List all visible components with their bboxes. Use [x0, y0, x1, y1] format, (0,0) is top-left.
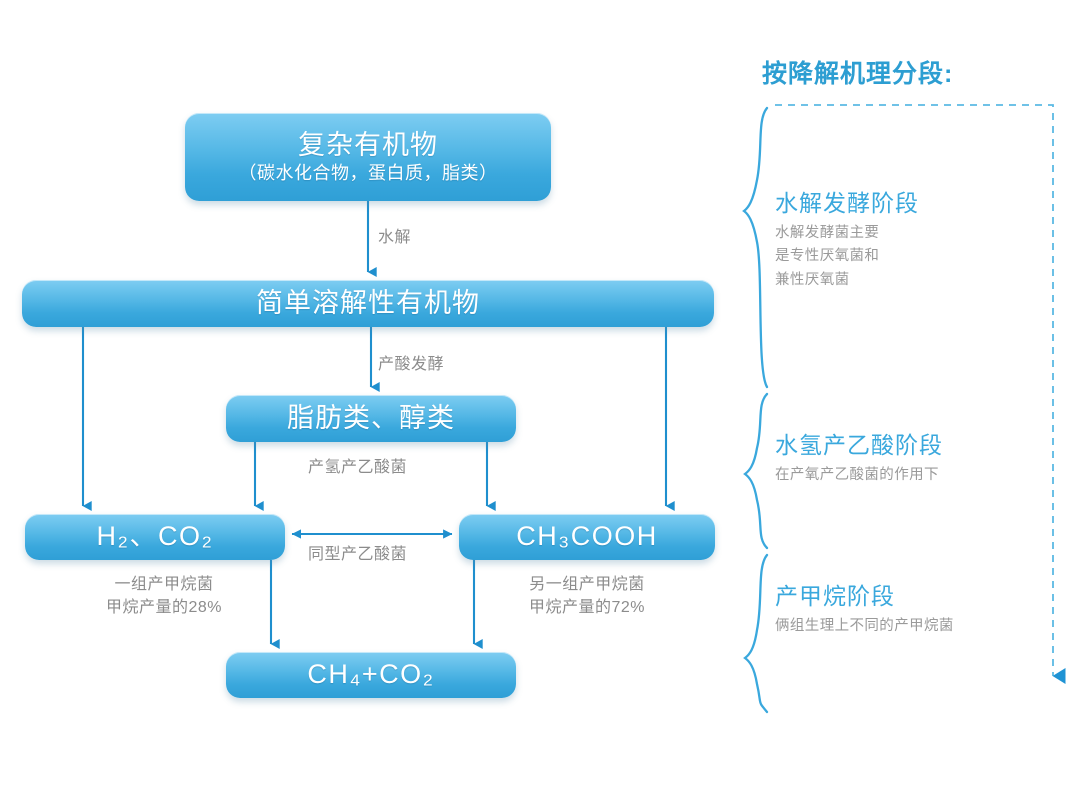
- node-simple-soluble-organics[interactable]: 简单溶解性有机物: [22, 280, 714, 327]
- stage-desc-line-1: 在产氧产乙酸菌的作用下: [775, 464, 943, 487]
- stage-block-hydrolysis-fermentation: 水解发酵阶段 水解发酵菌主要 是专性厌氧菌和 兼性厌氧菌: [775, 190, 919, 292]
- node-fats-alcohols[interactable]: 脂肪类、醇类: [226, 395, 516, 442]
- stage-desc-line-3: 兼性厌氧菌: [775, 269, 919, 292]
- node-complex-organics[interactable]: 复杂有机物 （碳水化合物，蛋白质，脂类）: [185, 113, 551, 201]
- node-fats-alcohols-title: 脂肪类、醇类: [287, 403, 455, 433]
- panel-title: 按降解机理分段:: [762, 54, 953, 90]
- edge-label-left-methanogens: 一组产甲烷菌 甲烷产量的28%: [84, 573, 244, 619]
- stage-desc-methanogenesis: 俩组生理上不同的产甲烷菌: [775, 615, 954, 638]
- stage-block-hydrogen-acetate: 水氢产乙酸阶段 在产氧产乙酸菌的作用下: [775, 432, 943, 487]
- edge-label-right-methanogens: 另一组产甲烷菌 甲烷产量的72%: [502, 573, 672, 619]
- diagram-canvas: 复杂有机物 （碳水化合物，蛋白质，脂类） 简单溶解性有机物 脂肪类、醇类 H₂、…: [0, 0, 1080, 793]
- node-complex-organics-title: 复杂有机物: [298, 130, 438, 160]
- node-ch4-co2-formula: CH₄+CO₂: [307, 660, 434, 690]
- stage-desc-hydrogen-acetate: 在产氧产乙酸菌的作用下: [775, 464, 943, 487]
- brace-stage-1: [744, 108, 767, 387]
- edge-label-right-methanogens-line2: 甲烷产量的72%: [502, 596, 672, 619]
- stage-title-methanogenesis: 产甲烷阶段: [775, 583, 954, 611]
- node-h2-co2-formula: H₂、CO₂: [97, 522, 214, 552]
- edge-label-hydrolysis: 水解: [378, 226, 411, 249]
- node-complex-organics-subtitle: （碳水化合物，蛋白质，脂类）: [239, 162, 498, 185]
- node-ch3cooh[interactable]: CH₃COOH: [459, 514, 715, 560]
- stage-block-methanogenesis: 产甲烷阶段 俩组生理上不同的产甲烷菌: [775, 583, 954, 638]
- node-simple-soluble-organics-title: 简单溶解性有机物: [256, 288, 480, 318]
- stage-desc-line-1: 水解发酵菌主要: [775, 222, 919, 245]
- edge-label-right-methanogens-line1: 另一组产甲烷菌: [502, 573, 672, 596]
- edge-label-homoacetogenic-bacteria: 同型产乙酸菌: [308, 543, 407, 566]
- node-ch3cooh-formula: CH₃COOH: [516, 522, 658, 552]
- stage-desc-hydrolysis-fermentation: 水解发酵菌主要 是专性厌氧菌和 兼性厌氧菌: [775, 222, 919, 292]
- stage-title-hydrogen-acetate: 水氢产乙酸阶段: [775, 432, 943, 460]
- brace-stage-3: [745, 555, 767, 712]
- edge-label-acidogenesis: 产酸发酵: [378, 353, 444, 376]
- brace-stage-2: [745, 394, 767, 548]
- stage-desc-line-2: 是专性厌氧菌和: [775, 245, 919, 268]
- node-ch4-co2[interactable]: CH₄+CO₂: [226, 652, 516, 698]
- edge-label-left-methanogens-line2: 甲烷产量的28%: [84, 596, 244, 619]
- node-h2-co2[interactable]: H₂、CO₂: [25, 514, 285, 560]
- edge-label-hydrogen-acetate-bacteria: 产氢产乙酸菌: [308, 456, 407, 479]
- edge-label-left-methanogens-line1: 一组产甲烷菌: [84, 573, 244, 596]
- stage-desc-line-1: 俩组生理上不同的产甲烷菌: [775, 615, 954, 638]
- stage-title-hydrolysis-fermentation: 水解发酵阶段: [775, 190, 919, 218]
